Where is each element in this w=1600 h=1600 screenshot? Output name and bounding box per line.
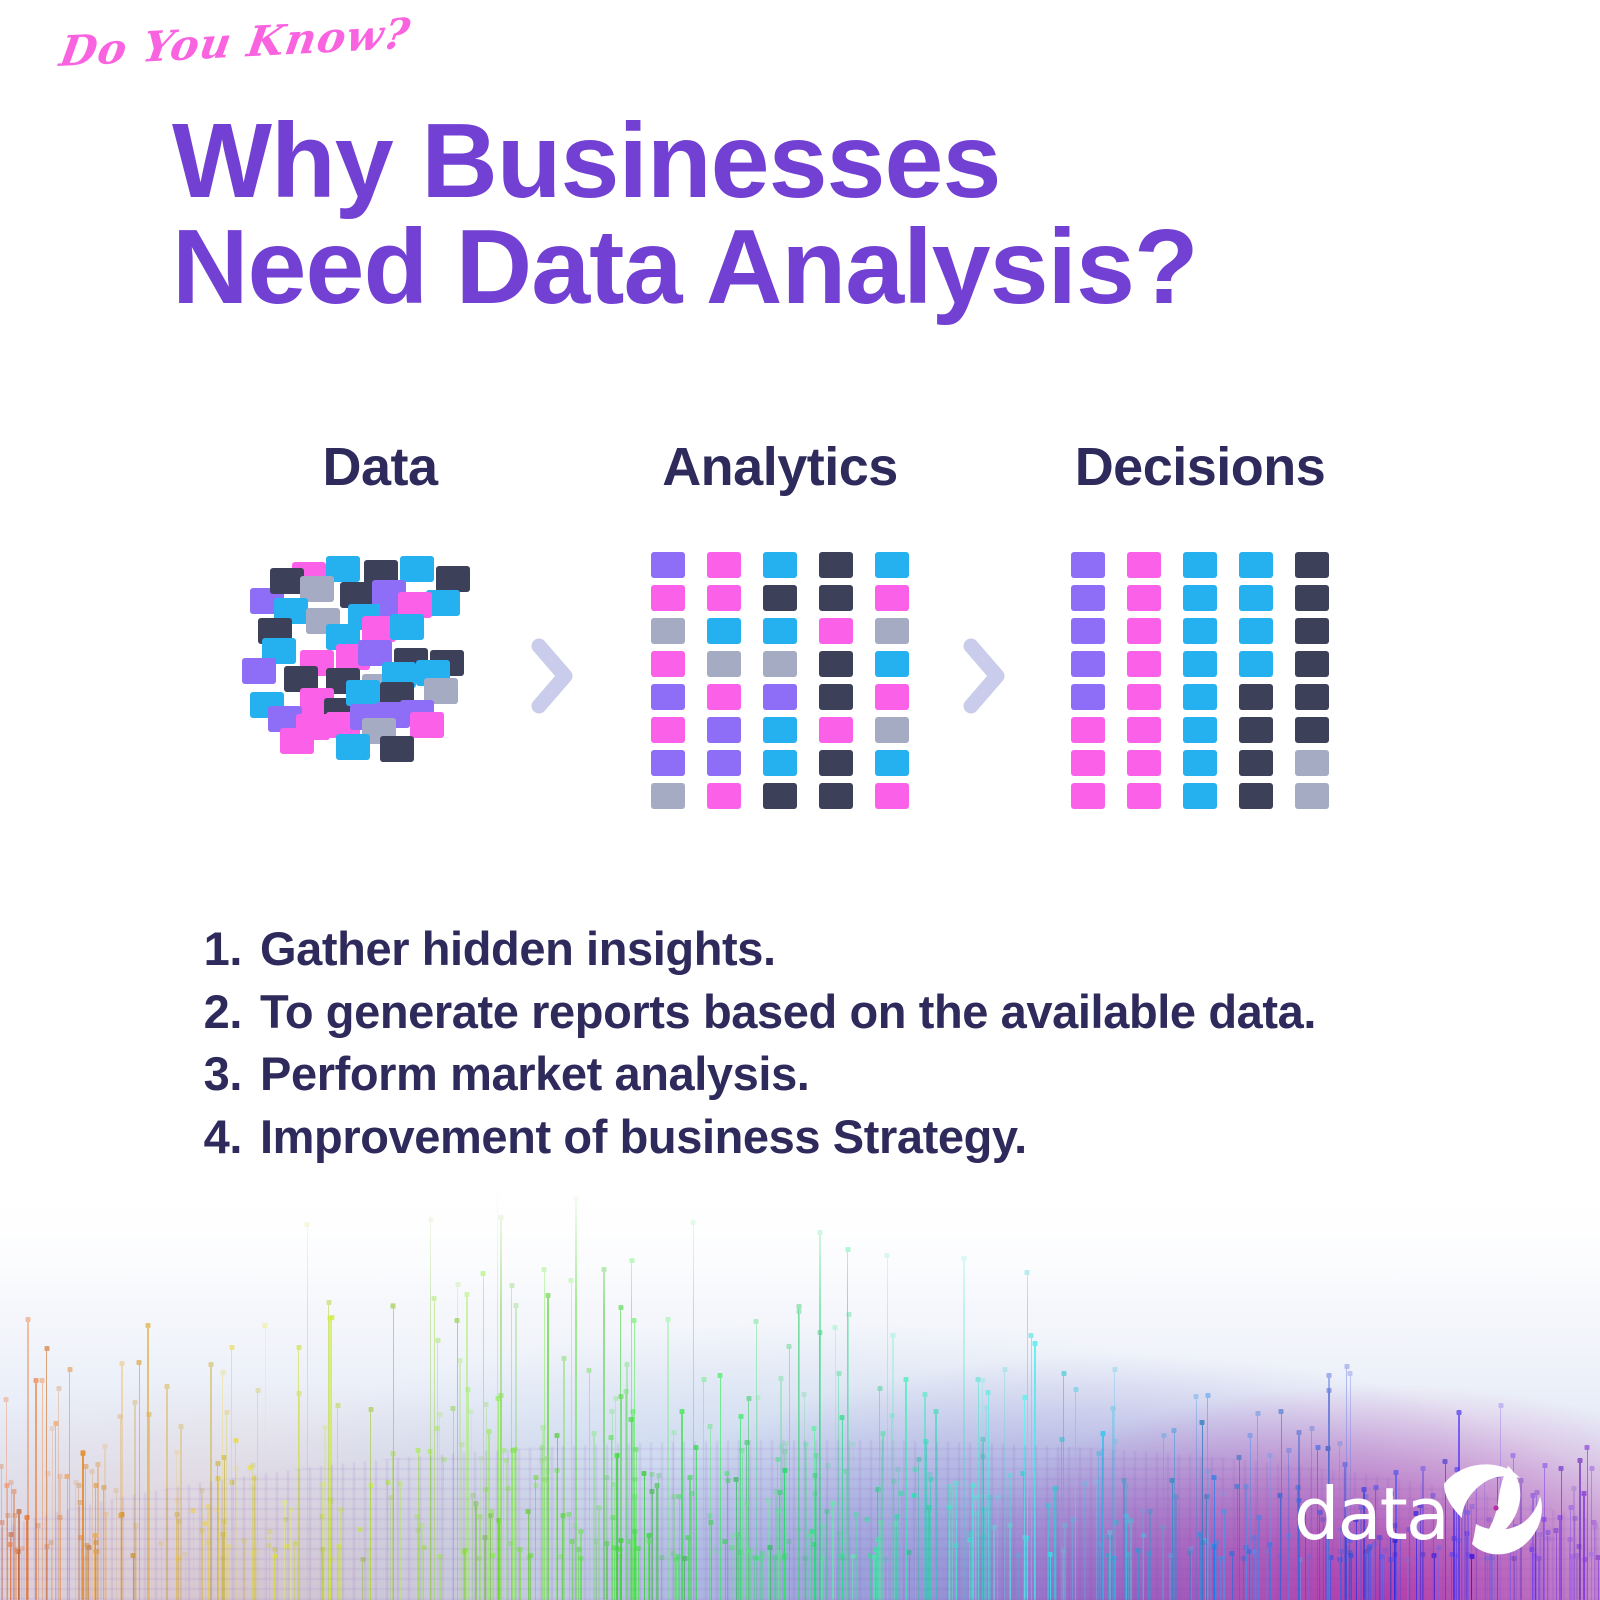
data-square [1127,717,1161,743]
data-square [763,717,797,743]
data-square [651,750,685,776]
pipeline-stage-decisions: Decisions [1040,440,1360,809]
data-square [651,684,685,710]
data-square [819,651,853,677]
data-square [875,684,909,710]
data-square [707,684,741,710]
scatter-cluster [240,552,520,812]
list-item: 2. To generate reports based on the avai… [186,981,1516,1044]
data-square [1295,651,1329,677]
pipeline-stage-data: Data [230,440,530,812]
data-square [1295,750,1329,776]
list-item: 4. Improvement of business Strategy. [186,1106,1516,1169]
data-square [651,651,685,677]
data-square [1183,684,1217,710]
logo-wordmark: data [1294,1478,1448,1550]
chevron-right-icon [957,638,1009,714]
data-square [763,618,797,644]
data-square [400,556,434,582]
data-square [1295,585,1329,611]
pipeline-diagram: Data Analytics Decisions [195,440,1410,840]
data-square [410,712,444,738]
stage-art-data [230,552,530,812]
data-square [1127,585,1161,611]
list-item-number: 4. [186,1106,242,1169]
data-square [875,585,909,611]
data-square [875,552,909,578]
data-square [707,651,741,677]
data-square [819,684,853,710]
data-square [1295,783,1329,809]
data-square [875,618,909,644]
data-square [1239,651,1273,677]
data-square [763,552,797,578]
data-square [763,684,797,710]
stage-title-data: Data [230,440,530,494]
data-square [651,717,685,743]
data-square [707,717,741,743]
data-square [707,585,741,611]
data-square [1239,717,1273,743]
data-square [707,750,741,776]
data-square [390,614,424,640]
stage-art-analytics [625,552,935,809]
data-square [763,783,797,809]
data-square [875,750,909,776]
data-square [1239,585,1273,611]
data-square [763,750,797,776]
list-item-number: 2. [186,981,242,1044]
data-square [651,618,685,644]
data-square [1295,552,1329,578]
data-square [707,783,741,809]
data-square [242,658,276,684]
data-square [1071,651,1105,677]
stage-title-analytics: Analytics [625,440,935,494]
data-square [1183,783,1217,809]
benefits-list: 1. Gather hidden insights. 2. To generat… [186,918,1516,1168]
pipeline-stage-analytics: Analytics [625,440,935,809]
list-item-number: 3. [186,1043,242,1106]
data-square [1183,618,1217,644]
data-square [1183,750,1217,776]
data-square [1239,552,1273,578]
data-square [1071,717,1105,743]
data-square [1127,783,1161,809]
data-square [819,717,853,743]
data-square [1127,651,1161,677]
data-square [1071,750,1105,776]
data-square [1071,552,1105,578]
data-square [1127,618,1161,644]
whale-icon [1436,1462,1548,1566]
list-item-text: To generate reports based on the availab… [260,981,1316,1044]
data-square [1183,585,1217,611]
data-square [819,618,853,644]
analytics-grid [625,552,935,809]
data-square [819,750,853,776]
data-square [1183,717,1217,743]
data-square [875,651,909,677]
data-square [346,680,380,706]
list-item-text: Improvement of business Strategy. [260,1106,1027,1169]
data-square [1127,552,1161,578]
data-square [1295,618,1329,644]
stage-art-decisions [1040,552,1360,809]
data-square [1127,750,1161,776]
data-square [1239,750,1273,776]
data-square [1239,618,1273,644]
data-square [1295,684,1329,710]
data-square [1071,783,1105,809]
list-item: 1. Gather hidden insights. [186,918,1516,981]
data-square [651,552,685,578]
data-square [1239,783,1273,809]
data-square [651,585,685,611]
eyebrow-label: Do You Know? [56,9,414,76]
data-square [1071,684,1105,710]
list-item-text: Perform market analysis. [260,1043,809,1106]
data-square [763,651,797,677]
data-square [1071,618,1105,644]
data-square [380,736,414,762]
chevron-right-icon [525,638,577,714]
data-square [436,566,470,592]
data-square [336,734,370,760]
data-square [1183,651,1217,677]
data-square [1127,684,1161,710]
list-item-number: 1. [186,918,242,981]
data-square [1239,684,1273,710]
page-title-line-2: Need Data Analysis? [172,214,1492,320]
list-item: 3. Perform market analysis. [186,1043,1516,1106]
list-item-text: Gather hidden insights. [260,918,776,981]
data-square [1183,552,1217,578]
data-square [875,717,909,743]
stage-title-decisions: Decisions [1040,440,1360,494]
data-square [819,585,853,611]
data-square [707,552,741,578]
data-square [1071,585,1105,611]
decisions-grid [1040,552,1360,809]
data-square [819,552,853,578]
brand-logo: data [1294,1462,1548,1566]
data-square [651,783,685,809]
data-square [819,783,853,809]
data-square [707,618,741,644]
page-title: Why Businesses Need Data Analysis? [172,108,1492,320]
page-title-line-1: Why Businesses [172,108,1492,214]
data-square [270,568,304,594]
artwork-top-fade [0,1180,1600,1310]
data-square [280,728,314,754]
data-square [875,783,909,809]
data-square [763,585,797,611]
data-square [1295,717,1329,743]
